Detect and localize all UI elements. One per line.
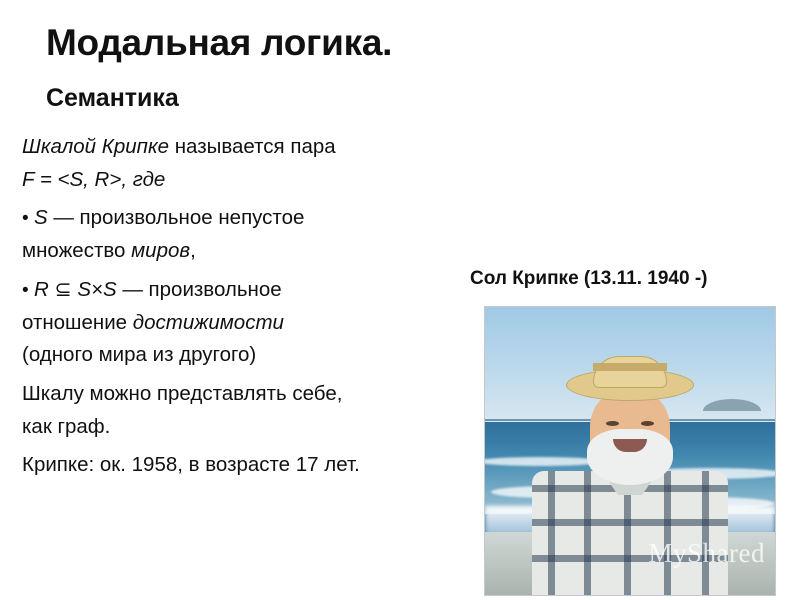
label-kripke: Крипке: bbox=[22, 453, 94, 476]
page-title: Модальная логика. bbox=[46, 22, 392, 64]
bullet-item-s-text: — произвольное непустое bbox=[48, 206, 305, 229]
term-accessibility: достижимости bbox=[133, 311, 284, 334]
bullet-item-s-comma: , bbox=[190, 239, 196, 262]
photo-person-eye bbox=[606, 421, 619, 426]
paragraph-kripke-age: Крипке: ок. 1958, в возрасте 17 лет. bbox=[22, 450, 462, 480]
definition-line-1-rest: называется пара bbox=[169, 135, 336, 158]
bullet-item-r-text: — произвольное bbox=[117, 278, 282, 301]
bullet-item-r-cont: отношение достижимости bbox=[22, 308, 462, 338]
photo-saul-kripke: MyShared bbox=[484, 306, 776, 596]
photo-person-hat-crown bbox=[593, 356, 667, 388]
photo-person-beard bbox=[587, 429, 673, 485]
photo-person-shirt bbox=[532, 471, 728, 595]
symbol-r: R bbox=[34, 278, 49, 301]
symbol-s: S bbox=[34, 206, 48, 229]
photo-person-hat-band bbox=[593, 363, 667, 371]
definition-line-1: Шкалой Крипке называется пара bbox=[22, 132, 462, 162]
bullet-item-s-cont: множество миров, bbox=[22, 236, 462, 266]
definition-line-2: F = <S, R>, где bbox=[22, 165, 462, 195]
bullet-item-r: • R ⊆ S×S — произвольное bbox=[22, 275, 462, 305]
photo-person-hat-brim bbox=[566, 369, 694, 401]
photo-person-mouth bbox=[613, 439, 647, 452]
slide-root: Модальная логика. Семантика Шкалой Крипк… bbox=[0, 0, 800, 600]
bullet-item-r-cont-2: (одного мира из другого) bbox=[22, 340, 462, 370]
bullet-item-s: • S — произвольное непустое bbox=[22, 203, 462, 233]
symbol-sxs: S×S bbox=[77, 278, 116, 301]
term-worlds: миров bbox=[131, 239, 190, 262]
bullet-dot-icon: • bbox=[22, 208, 34, 229]
bullet-dot-icon-2: • bbox=[22, 280, 34, 301]
watermark-text: MyShared bbox=[649, 538, 765, 569]
paragraph-kripke-age-text: ок. 1958, в возрасте 17 лет. bbox=[94, 453, 360, 476]
photo-caption: Сол Крипке (13.11. 1940 -) bbox=[470, 268, 708, 290]
bullet-item-r-cont-text: отношение bbox=[22, 311, 133, 334]
photo-person-eye bbox=[641, 421, 654, 426]
subset-symbol: ⊆ bbox=[49, 278, 78, 301]
bullet-item-s-cont-text: множество bbox=[22, 239, 131, 262]
paragraph-graph-line-2: как граф. bbox=[22, 412, 462, 442]
slide-body: Шкалой Крипке называется пара F = <S, R>… bbox=[22, 132, 462, 483]
paragraph-graph-line-1: Шкалу можно представлять себе, bbox=[22, 379, 462, 409]
page-subtitle: Семантика bbox=[46, 84, 179, 113]
formula-frame: F = <S, R>, где bbox=[22, 168, 165, 191]
term-kripke-frame: Шкалой Крипке bbox=[22, 135, 169, 158]
